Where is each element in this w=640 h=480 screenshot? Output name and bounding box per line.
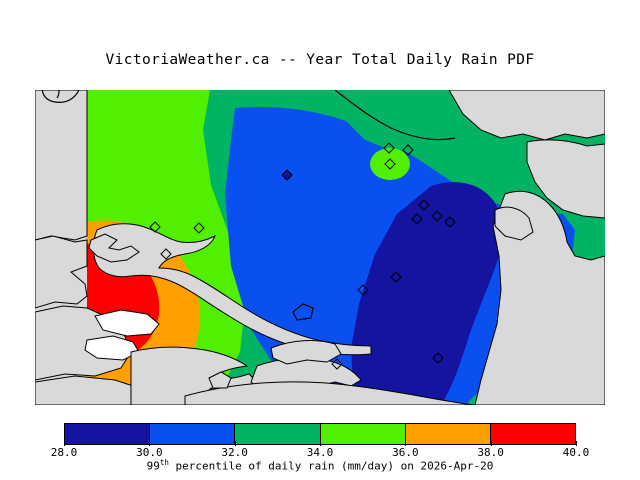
caption-prefix: 99	[147, 460, 160, 473]
chart-title: VictoriaWeather.ca -- Year Total Daily R…	[0, 52, 640, 68]
land-south-bay	[271, 341, 341, 364]
colorbar-shadow	[4, 4, 516, 26]
colorbar-caption: 99th percentile of daily rain (mm/day) o…	[0, 458, 640, 473]
contour-map	[35, 90, 605, 405]
map-plot-area	[35, 90, 605, 405]
land-west	[35, 90, 87, 240]
caption-suffix: percentile of daily rain (mm/day) on 202…	[169, 460, 494, 473]
isolated-contour-blob-34-36	[370, 148, 410, 180]
caption-superscript: th	[160, 458, 169, 467]
chart-canvas: VictoriaWeather.ca -- Year Total Daily R…	[0, 0, 640, 480]
